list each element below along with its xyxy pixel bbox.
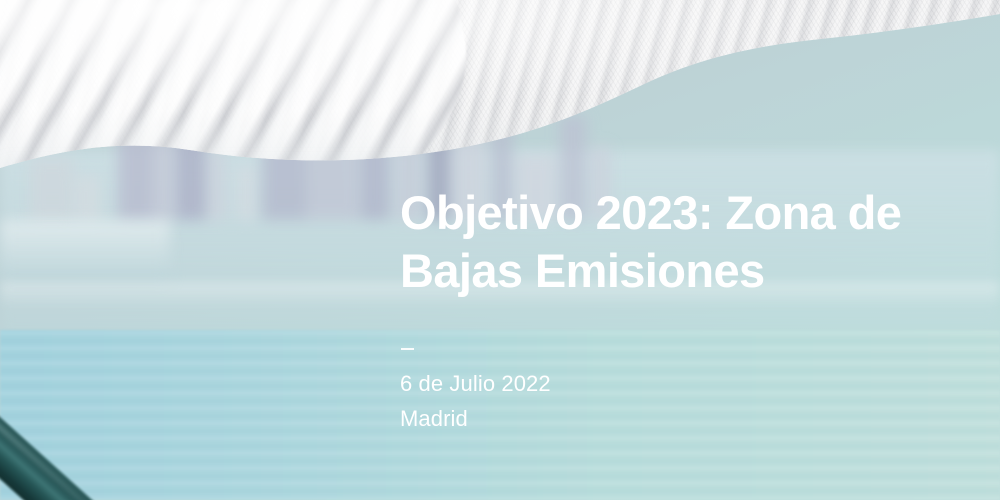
poster-title: Objetivo 2023: Zona de Bajas Emisiones (400, 184, 1000, 300)
skyline-tower (30, 158, 74, 220)
skyline-tower (238, 166, 254, 220)
poster-text-block: Objetivo 2023: Zona de Bajas Emisiones 6… (400, 0, 1000, 500)
event-poster: Objetivo 2023: Zona de Bajas Emisiones 6… (0, 0, 1000, 500)
skyline-tower (76, 176, 100, 220)
distant-bridge-structure (0, 220, 170, 282)
title-divider-rule (401, 348, 414, 350)
skyline-tower (208, 150, 226, 220)
poster-meta: 6 de Julio 2022 Madrid (400, 366, 800, 436)
